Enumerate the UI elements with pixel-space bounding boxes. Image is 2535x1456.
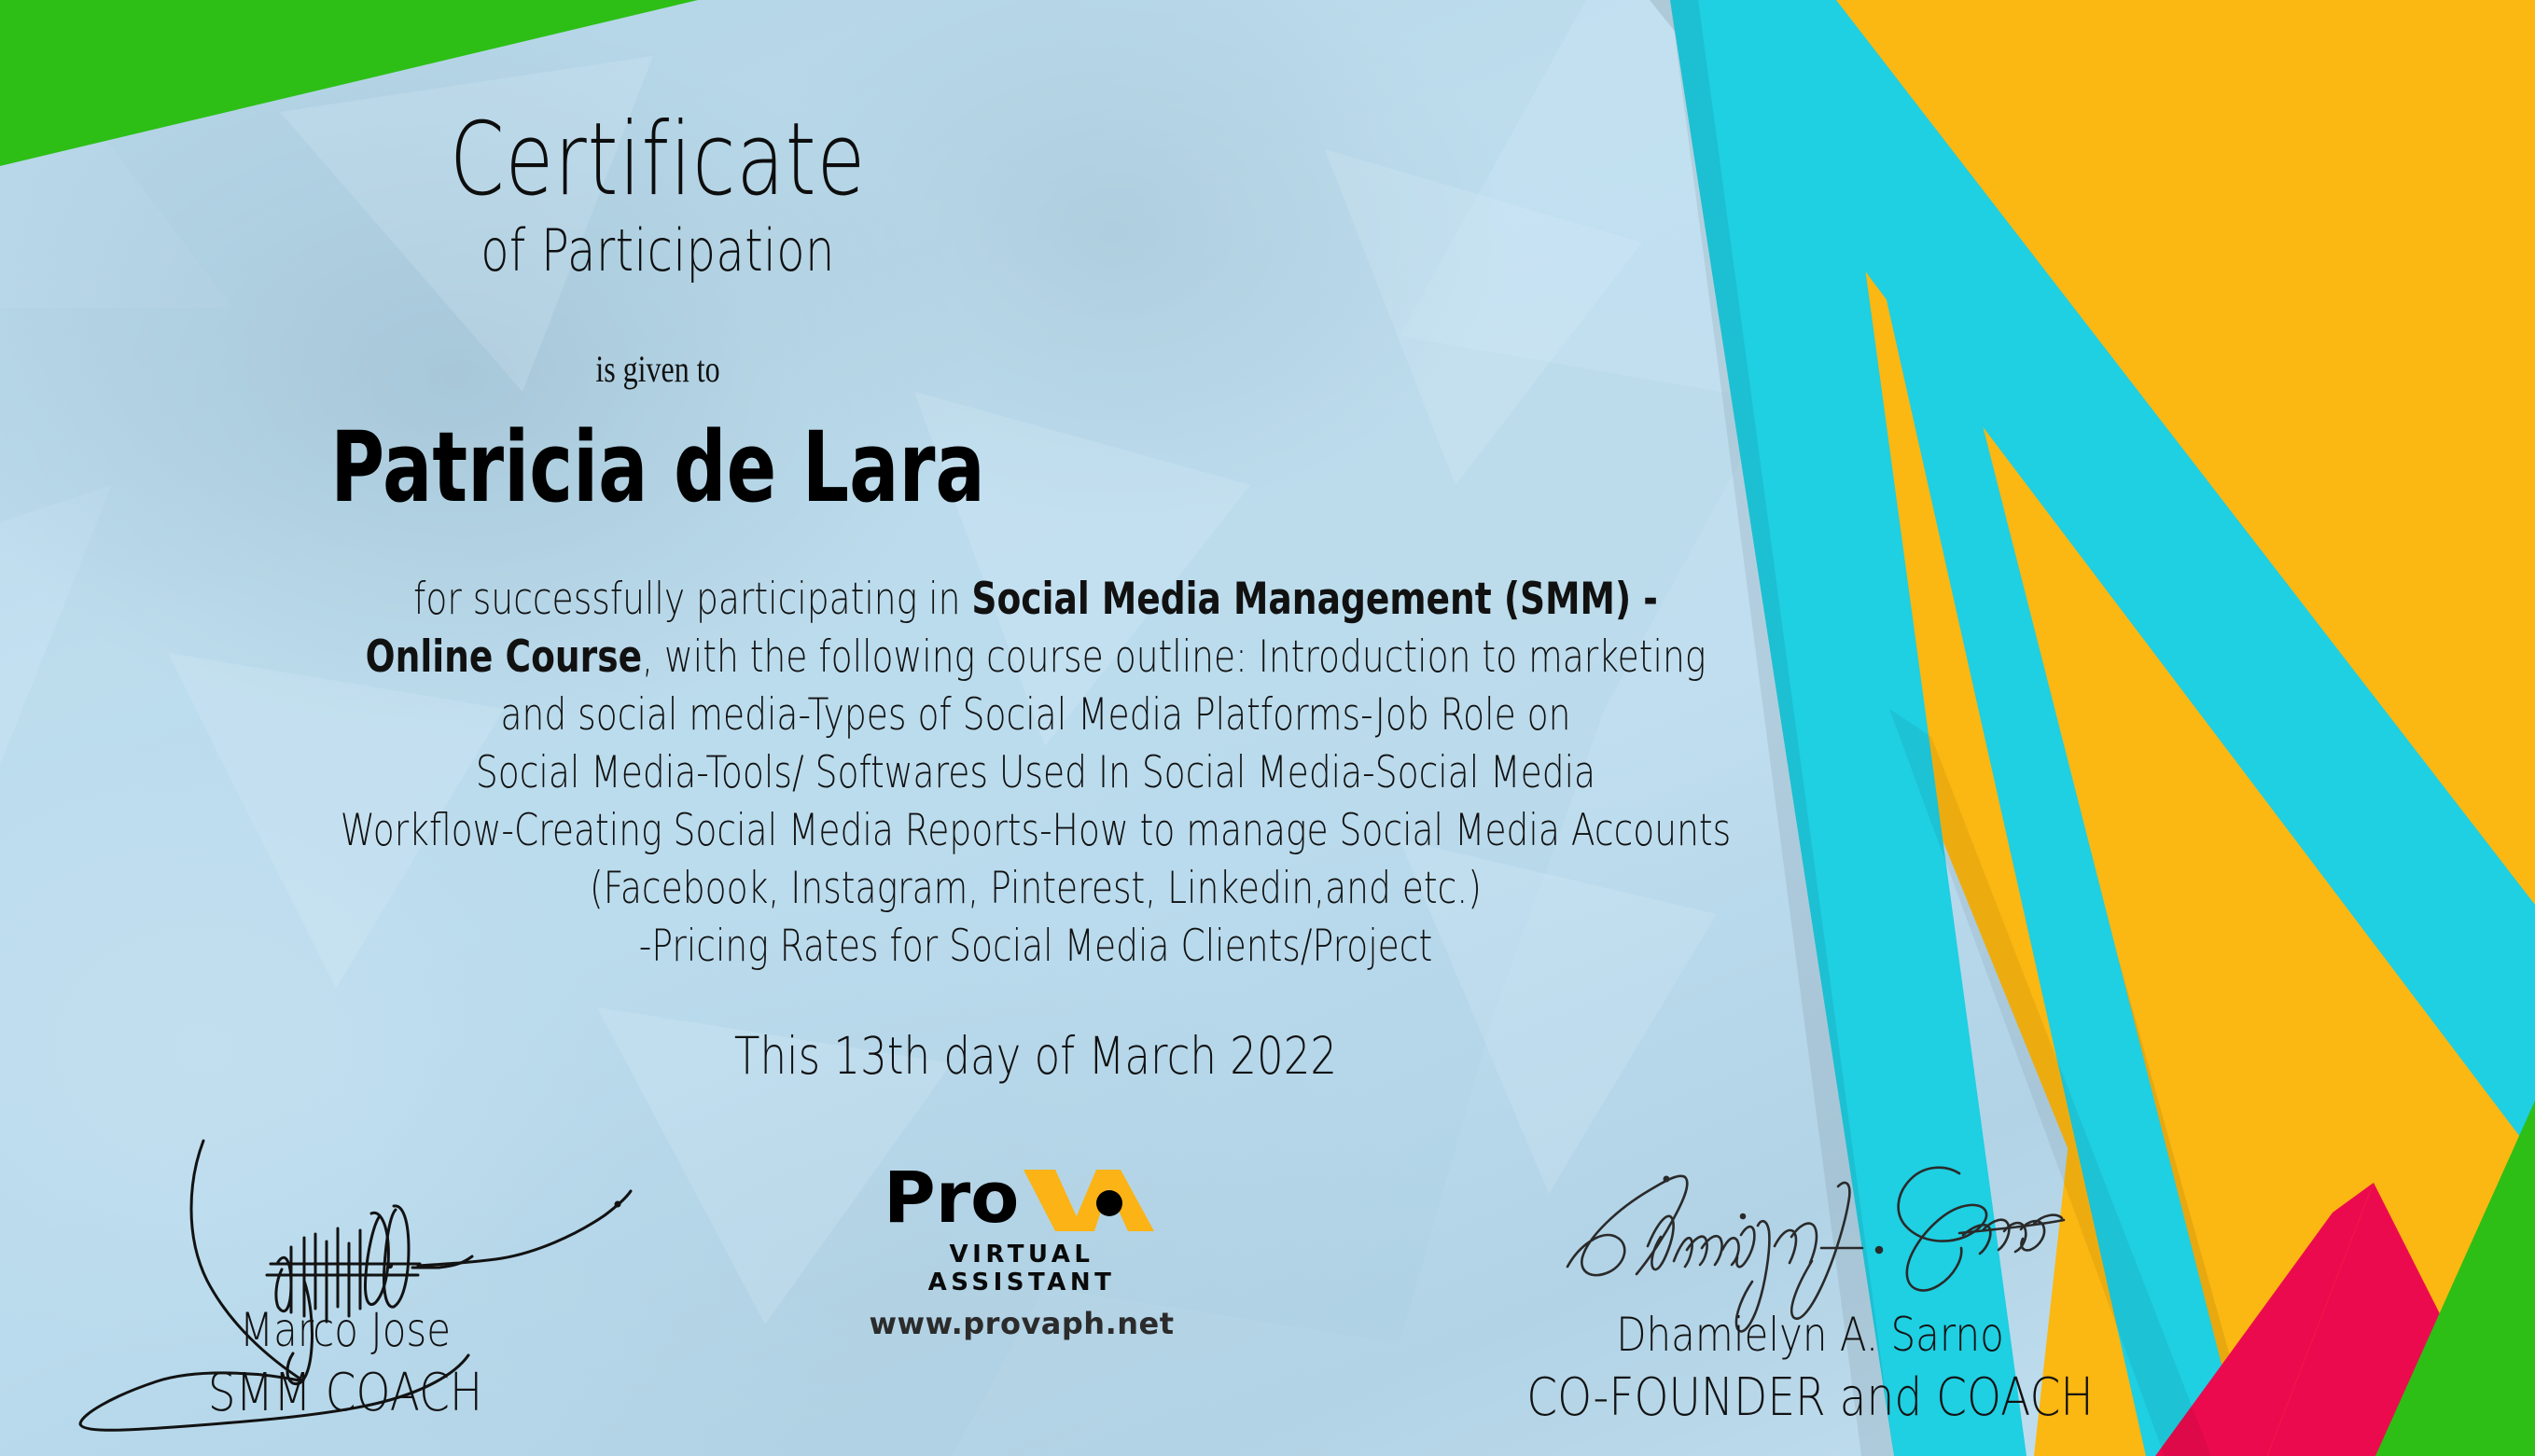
- course-description-line: Online Course, with the following course…: [222, 629, 1849, 686]
- course-description-line: Social Media-Tools/ Softwares Used In So…: [222, 744, 1849, 802]
- course-highlight: Social Media Management (SMM) -: [971, 574, 1657, 625]
- date-line: This 13th day of March 2022: [202, 1026, 1870, 1086]
- course-text: (Facebook, Instagram, Pinterest, Linkedi…: [590, 863, 1482, 914]
- course-description-line: for successfully participating in Social…: [222, 571, 1849, 629]
- logo-letter-v-fill: [1024, 1170, 1079, 1231]
- logo-url: www.provaph.net: [854, 1306, 1190, 1341]
- signature-name-left: Marco Jose: [103, 1303, 589, 1357]
- signature-block-right: Dhamielyn A. Sarno CO-FOUNDER and COACH: [1456, 1166, 2165, 1428]
- logo-tagline: VIRTUAL ASSISTANT: [854, 1241, 1190, 1297]
- course-text: Social Media-Tools/ Softwares Used In So…: [476, 747, 1595, 798]
- page-subtitle: of Participation: [132, 222, 1184, 280]
- course-description: for successfully participating in Social…: [19, 571, 2053, 976]
- course-text: -Pricing Rates for Social Media Clients/…: [639, 921, 1432, 972]
- course-description-line: -Pricing Rates for Social Media Clients/…: [222, 918, 1849, 976]
- course-description-line: and social media-Types of Social Media P…: [222, 686, 1849, 744]
- course-description-line: (Facebook, Instagram, Pinterest, Linkedi…: [222, 860, 1849, 918]
- course-description-line: Workflow-Creating Social Media Reports-H…: [222, 802, 1849, 860]
- recipient-name: Patricia de Lara: [158, 410, 1158, 524]
- page-title: Certificate: [145, 110, 1171, 211]
- given-to-label: is given to: [132, 347, 1184, 391]
- signature-role-left: SMM COACH: [103, 1363, 589, 1423]
- prova-logo: Pro VIRTUAL ASSISTANT www.provaph.net: [854, 1157, 1190, 1341]
- signature-name-right: Dhamielyn A. Sarno: [1512, 1308, 2108, 1362]
- signature-role-right: CO-FOUNDER and COACH: [1512, 1367, 2108, 1428]
- course-highlight: Online Course: [366, 631, 642, 683]
- course-text: for successfully participating in: [413, 574, 971, 625]
- title-block: Certificate of Participation: [0, 110, 1316, 280]
- course-text: Workflow-Creating Social Media Reports-H…: [341, 805, 1732, 856]
- logo-word-pro: Pro: [884, 1157, 1019, 1239]
- signature-block-left: Marco Jose SMM COACH: [56, 1133, 634, 1423]
- course-text: , with the following course outline: Int…: [642, 631, 1706, 683]
- certificate-content: Certificate of Participation is given to…: [0, 0, 2535, 1456]
- prova-logo-mark: Pro: [882, 1157, 1162, 1239]
- certificate-canvas: Certificate of Participation is given to…: [0, 0, 2535, 1456]
- logo-dot: [1096, 1190, 1122, 1216]
- course-text: and social media-Types of Social Media P…: [500, 689, 1570, 741]
